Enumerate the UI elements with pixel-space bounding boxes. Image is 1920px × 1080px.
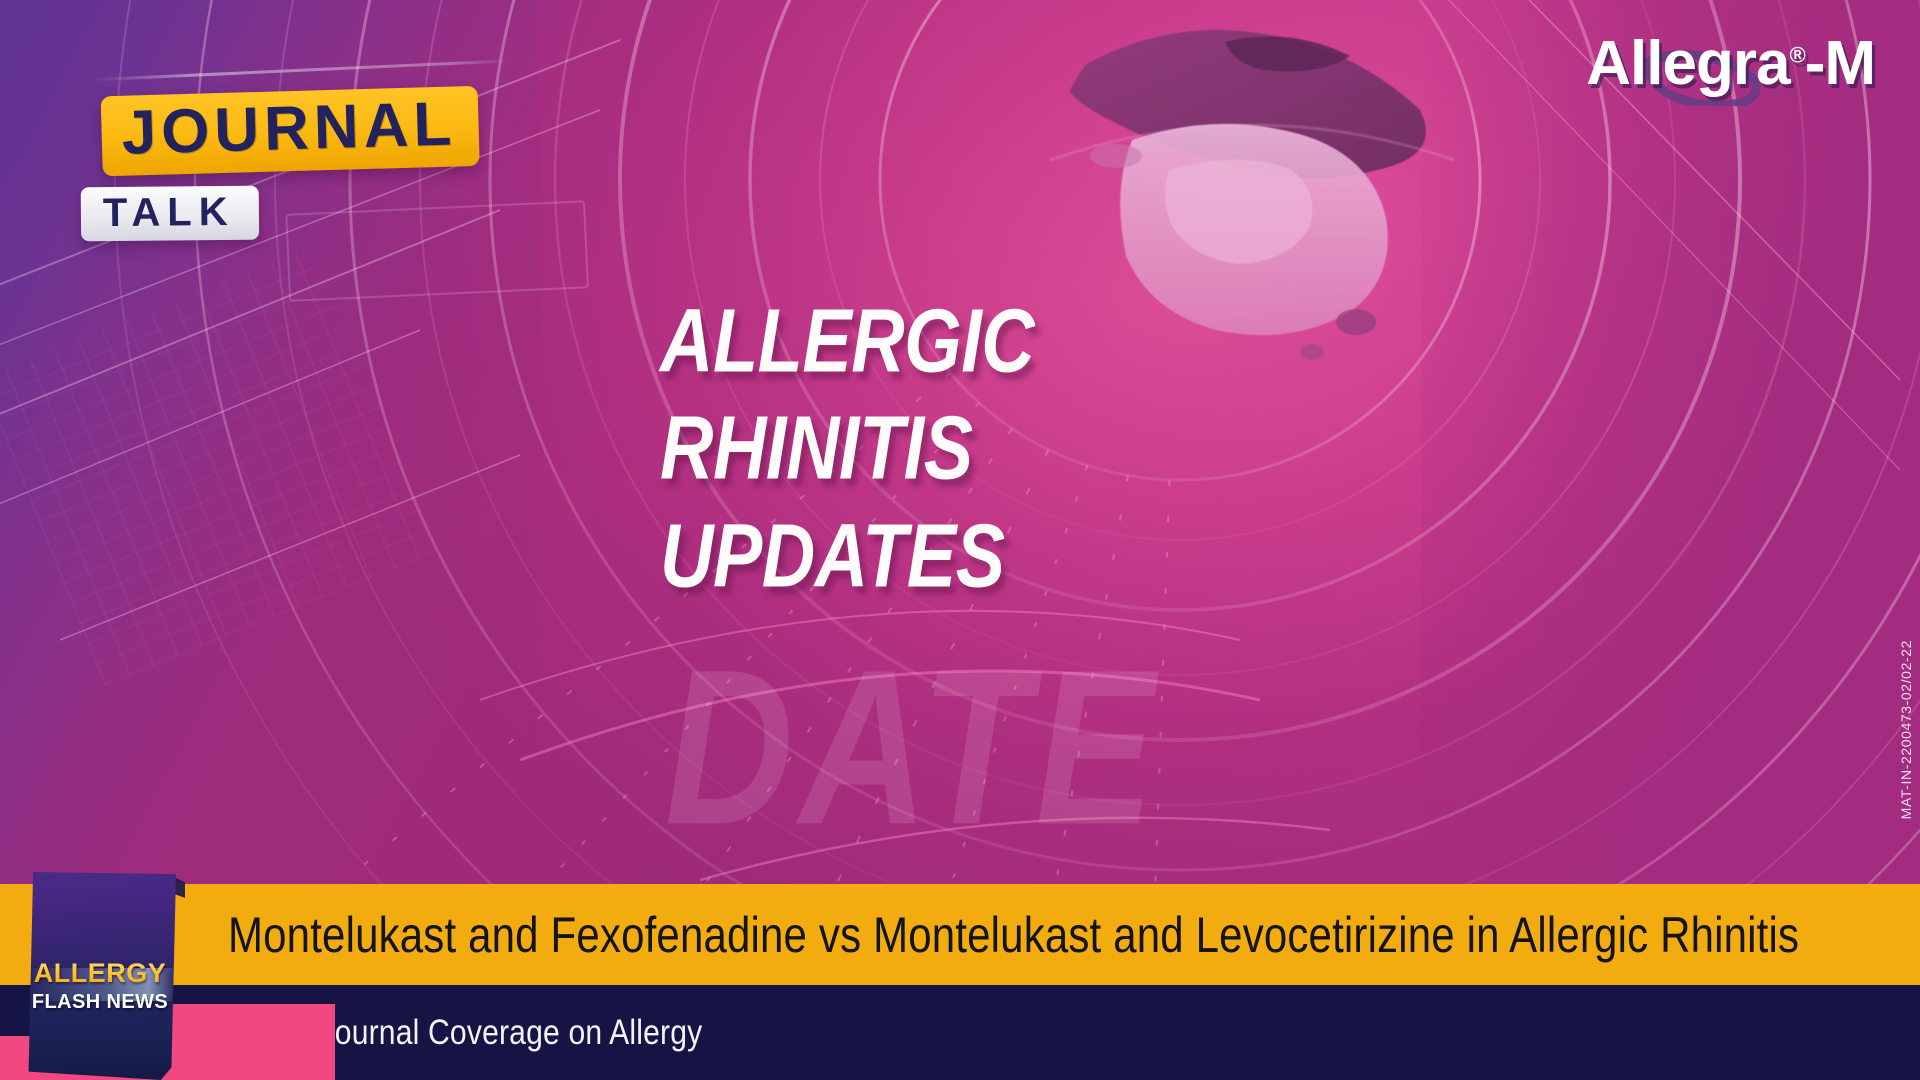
article-title: Montelukast and Fexofenadine vs Monteluk… xyxy=(228,906,1799,964)
allergy-flash-news-ribbon[interactable]: ALLERGY FLASH NEWS xyxy=(24,872,176,1080)
registered-trademark-mark: ® xyxy=(1789,42,1804,67)
logo-outline-box xyxy=(285,200,589,302)
brand-wordmark-suffix: -M xyxy=(1805,29,1875,98)
hero-headline-line-2: RHINITIS xyxy=(660,403,1380,492)
hero-headline-line-1: ALLERGIC xyxy=(660,296,1380,385)
hero-headline: ALLERGIC RHINITIS UPDATES xyxy=(660,296,1380,618)
ribbon-title-allergy: ALLERGY xyxy=(24,958,176,989)
hero-headline-line-3: UPDATES xyxy=(660,511,1380,600)
logo-talk-text: TALK xyxy=(103,192,235,233)
presentation-slide: DATE JOURNAL TALK Allegra®-M ALLERGIC RH… xyxy=(0,0,1920,1080)
brand-wordmark: Allegra®-M xyxy=(1586,28,1875,99)
brand-wordmark-text: Allegra®-M xyxy=(1586,29,1875,98)
logo-journal-plate: JOURNAL xyxy=(101,86,480,176)
ribbon-subtitle-flash-news: FLASH NEWS xyxy=(24,991,176,1014)
headline-banner: Montelukast and Fexofenadine vs Monteluk… xyxy=(0,884,1920,985)
material-code-label: MAT-IN-2200473-02/02-22 xyxy=(1898,640,1914,819)
allegra-m-brand-logo[interactable]: Allegra®-M xyxy=(1586,28,1875,110)
logo-talk-plate: TALK xyxy=(81,186,259,242)
logo-journal-text: JOURNAL xyxy=(121,94,457,163)
journal-talk-logo[interactable]: JOURNAL TALK xyxy=(82,71,577,285)
